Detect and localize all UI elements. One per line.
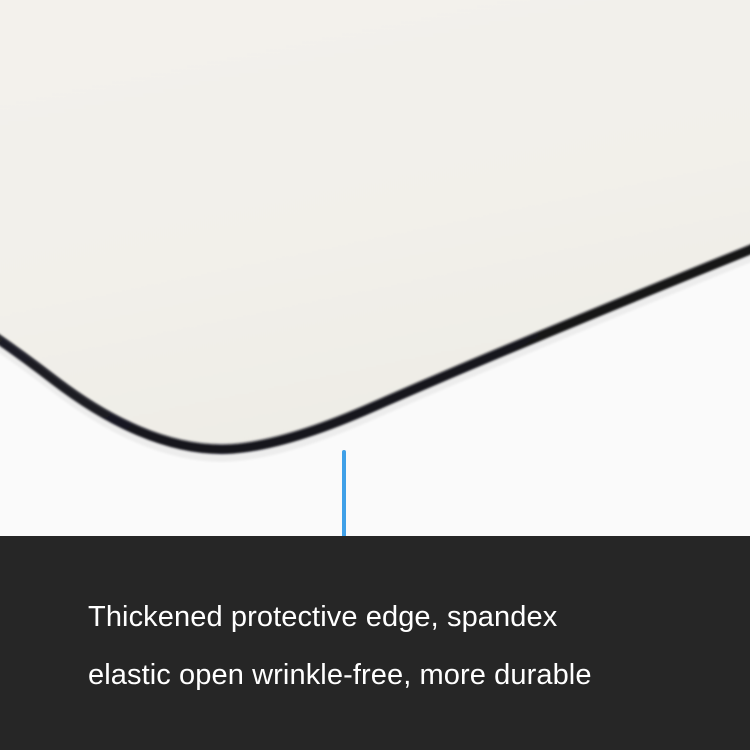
product-detail-image: Thickened protective edge, spandex elast… (0, 0, 750, 750)
caption-line-2: elastic open wrinkle-free, more durable (88, 646, 708, 704)
caption-text-block: Thickened protective edge, spandex elast… (88, 588, 708, 704)
caption-bar: Thickened protective edge, spandex elast… (0, 536, 750, 750)
caption-line-1: Thickened protective edge, spandex (88, 588, 708, 646)
product-surface-group (0, 0, 750, 447)
product-surface (0, 0, 750, 447)
